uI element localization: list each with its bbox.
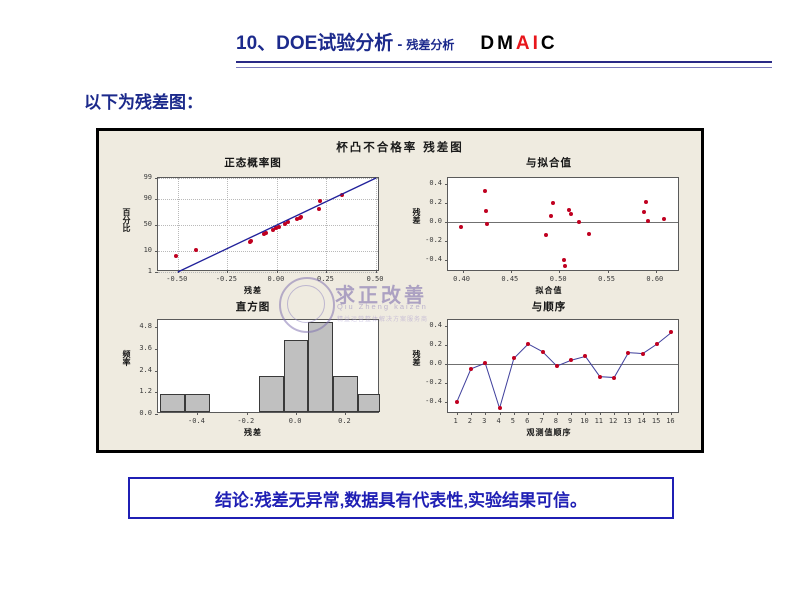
y-tick-label: 1.2 xyxy=(139,387,152,395)
x-tick-label: 0.45 xyxy=(501,275,518,283)
histogram-bar xyxy=(259,376,284,412)
slide: 10、DOE试验分析 - 残差分析 DMAIC 以下为残差图： 杯凸不合格率 残… xyxy=(0,0,800,600)
panel-residuals-vs-order: 与顺序0.40.20.0-0.2-0.412345678910111213141… xyxy=(403,299,695,445)
reference-line xyxy=(158,178,380,272)
data-point xyxy=(512,356,516,360)
x-tick-mark xyxy=(345,412,346,415)
data-point xyxy=(526,342,530,346)
axis-label-x-normal-probability-plot: 残差 xyxy=(107,285,399,296)
data-point xyxy=(587,232,591,236)
header-title-main: 10、DOE试验分析 xyxy=(236,28,393,55)
x-tick-mark xyxy=(197,412,198,415)
x-tick-label: 8 xyxy=(554,417,558,425)
residual-plots-figure: 杯凸不合格率 残差图 正态概率图999050101-0.50-0.250.000… xyxy=(96,128,704,453)
sub-heading: 以下为残差图： xyxy=(84,88,203,113)
x-tick-mark xyxy=(247,412,248,415)
y-tick-label: 1 xyxy=(148,267,152,275)
plot-area-residual-histogram xyxy=(157,319,379,413)
x-tick-label: -0.2 xyxy=(237,417,254,425)
data-point xyxy=(626,351,630,355)
y-tick-mark xyxy=(445,203,448,204)
x-tick-label: 0.50 xyxy=(367,275,384,283)
data-point xyxy=(541,350,545,354)
data-point xyxy=(669,330,673,334)
x-tick-label: 13 xyxy=(623,417,631,425)
x-tick-label: 0.00 xyxy=(267,275,284,283)
x-tick-label: -0.4 xyxy=(188,417,205,425)
x-tick-label: 0.0 xyxy=(289,417,302,425)
x-tick-label: 7 xyxy=(539,417,543,425)
data-point xyxy=(646,219,650,223)
dmaic-i: I xyxy=(533,33,541,54)
x-tick-label: 14 xyxy=(638,417,646,425)
y-tick-label: 99 xyxy=(144,173,152,181)
data-point xyxy=(562,258,566,262)
x-tick-label: 0.25 xyxy=(317,275,334,283)
dmaic-c: C xyxy=(541,33,558,54)
x-tick-mark xyxy=(656,270,657,273)
panel-title-residuals-vs-order: 与顺序 xyxy=(403,299,695,314)
y-tick-label: -0.2 xyxy=(425,236,442,244)
x-tick-mark xyxy=(511,270,512,273)
data-point xyxy=(455,400,459,404)
y-tick-mark xyxy=(155,327,158,328)
y-tick-label: 0.2 xyxy=(429,198,442,206)
y-tick-mark xyxy=(445,241,448,242)
axis-label-y-residuals-vs-order: 残差 xyxy=(411,350,422,366)
y-tick-mark xyxy=(155,272,158,273)
x-tick-mark xyxy=(296,412,297,415)
conclusion-text: 结论:残差无异常,数据具有代表性,实验结果可信。 xyxy=(215,486,587,511)
data-point xyxy=(567,208,571,212)
panel-title-residual-histogram: 直方图 xyxy=(107,299,399,314)
axis-label-y-residuals-vs-fits: 残差 xyxy=(411,208,422,224)
data-point xyxy=(485,222,489,226)
data-point xyxy=(483,361,487,365)
y-tick-mark xyxy=(445,222,448,223)
y-tick-label: 2.4 xyxy=(139,366,152,374)
data-point xyxy=(551,201,555,205)
y-tick-mark xyxy=(445,184,448,185)
x-tick-label: 16 xyxy=(666,417,674,425)
x-tick-label: 0.55 xyxy=(598,275,615,283)
x-tick-label: 3 xyxy=(482,417,486,425)
axis-label-x-residuals-vs-fits: 拟合值 xyxy=(403,285,695,296)
data-point xyxy=(569,358,573,362)
series-line xyxy=(448,320,680,414)
header-divider xyxy=(236,61,772,68)
histogram-bar xyxy=(284,340,309,412)
y-tick-label: -0.4 xyxy=(425,255,442,263)
x-tick-label: -0.50 xyxy=(166,275,187,283)
panel-residuals-vs-fits: 与拟合值0.40.20.0-0.2-0.40.400.450.500.550.6… xyxy=(403,155,695,297)
y-tick-mark xyxy=(155,371,158,372)
y-tick-label: 0.4 xyxy=(429,321,442,329)
y-tick-label: 0.0 xyxy=(429,217,442,225)
header-dash: - xyxy=(397,36,402,53)
data-point xyxy=(577,220,581,224)
data-point xyxy=(598,375,602,379)
data-point xyxy=(662,217,666,221)
y-tick-label: 3.6 xyxy=(139,344,152,352)
x-tick-label: 0.2 xyxy=(338,417,351,425)
y-tick-label: 0.4 xyxy=(429,179,442,187)
grid-line-horizontal xyxy=(158,272,378,273)
y-tick-mark xyxy=(155,349,158,350)
data-point xyxy=(612,376,616,380)
y-tick-mark xyxy=(155,414,158,415)
plot-area-normal-probability-plot xyxy=(157,177,379,271)
header-title-sub: 残差分析 xyxy=(406,36,454,53)
x-tick-label: -0.25 xyxy=(216,275,237,283)
y-tick-label: 10 xyxy=(144,246,152,254)
data-point xyxy=(644,200,648,204)
x-tick-label: 11 xyxy=(595,417,603,425)
data-point xyxy=(642,210,646,214)
dmaic-a: A xyxy=(516,33,533,54)
dmaic-m: M xyxy=(497,33,516,54)
x-tick-label: 2 xyxy=(468,417,472,425)
data-point xyxy=(563,264,567,268)
data-point xyxy=(583,354,587,358)
conclusion-box: 结论:残差无异常,数据具有代表性,实验结果可信。 xyxy=(128,477,674,519)
panel-title-residuals-vs-fits: 与拟合值 xyxy=(403,155,695,170)
histogram-bar xyxy=(333,376,358,412)
zero-reference-line xyxy=(448,222,678,223)
x-tick-label: 9 xyxy=(568,417,572,425)
data-point xyxy=(469,367,473,371)
x-tick-label: 0.60 xyxy=(646,275,663,283)
y-tick-label: 50 xyxy=(144,220,152,228)
y-tick-label: 0.0 xyxy=(429,359,442,367)
axis-label-y-normal-probability-plot: 百分比 xyxy=(121,208,132,232)
x-tick-mark xyxy=(463,270,464,273)
dmaic-d: D xyxy=(480,33,497,54)
data-point xyxy=(483,189,487,193)
plot-area-residuals-vs-fits xyxy=(447,177,679,271)
data-point xyxy=(544,233,548,237)
y-tick-label: 90 xyxy=(144,194,152,202)
x-tick-label: 12 xyxy=(609,417,617,425)
dmaic-indicator: DMAIC xyxy=(480,33,557,55)
x-tick-label: 4 xyxy=(496,417,500,425)
y-tick-mark xyxy=(155,392,158,393)
y-tick-label: 0.2 xyxy=(429,340,442,348)
data-point xyxy=(569,212,573,216)
x-tick-label: 0.40 xyxy=(453,275,470,283)
histogram-bar xyxy=(160,394,185,412)
x-tick-label: 0.50 xyxy=(550,275,567,283)
panel-normal-probability-plot: 正态概率图999050101-0.50-0.250.000.250.50残差百分… xyxy=(107,155,399,297)
x-tick-label: 15 xyxy=(652,417,660,425)
plot-area-residuals-vs-order xyxy=(447,319,679,413)
data-point xyxy=(641,352,645,356)
y-tick-label: -0.2 xyxy=(425,378,442,386)
x-tick-mark xyxy=(608,270,609,273)
panel-residual-histogram: 直方图0.01.22.43.64.8-0.4-0.20.00.2残差频率 xyxy=(107,299,399,445)
data-point xyxy=(555,364,559,368)
histogram-bar xyxy=(358,394,380,412)
axis-label-x-residuals-vs-order: 观测值顺序 xyxy=(403,427,695,438)
data-point xyxy=(459,225,463,229)
data-point xyxy=(498,406,502,410)
axis-label-x-residual-histogram: 残差 xyxy=(107,427,399,438)
panel-title-normal-probability-plot: 正态概率图 xyxy=(107,155,399,170)
x-tick-label: 10 xyxy=(580,417,588,425)
x-tick-mark xyxy=(559,270,560,273)
data-point xyxy=(484,209,488,213)
y-tick-label: 4.8 xyxy=(139,322,152,330)
header-title-row: 10、DOE试验分析 - 残差分析 DMAIC xyxy=(236,28,772,55)
x-tick-label: 5 xyxy=(511,417,515,425)
x-tick-label: 1 xyxy=(453,417,457,425)
x-tick-label: 6 xyxy=(525,417,529,425)
figure-title: 杯凸不合格率 残差图 xyxy=(99,139,701,155)
data-point xyxy=(549,214,553,218)
histogram-bar xyxy=(185,394,210,412)
y-tick-mark xyxy=(445,260,448,261)
y-tick-label: -0.4 xyxy=(425,397,442,405)
data-point xyxy=(655,342,659,346)
slide-header: 10、DOE试验分析 - 残差分析 DMAIC xyxy=(236,28,772,55)
histogram-bar xyxy=(308,322,333,412)
y-tick-label: 0.0 xyxy=(139,409,152,417)
axis-label-y-residual-histogram: 频率 xyxy=(121,350,132,366)
